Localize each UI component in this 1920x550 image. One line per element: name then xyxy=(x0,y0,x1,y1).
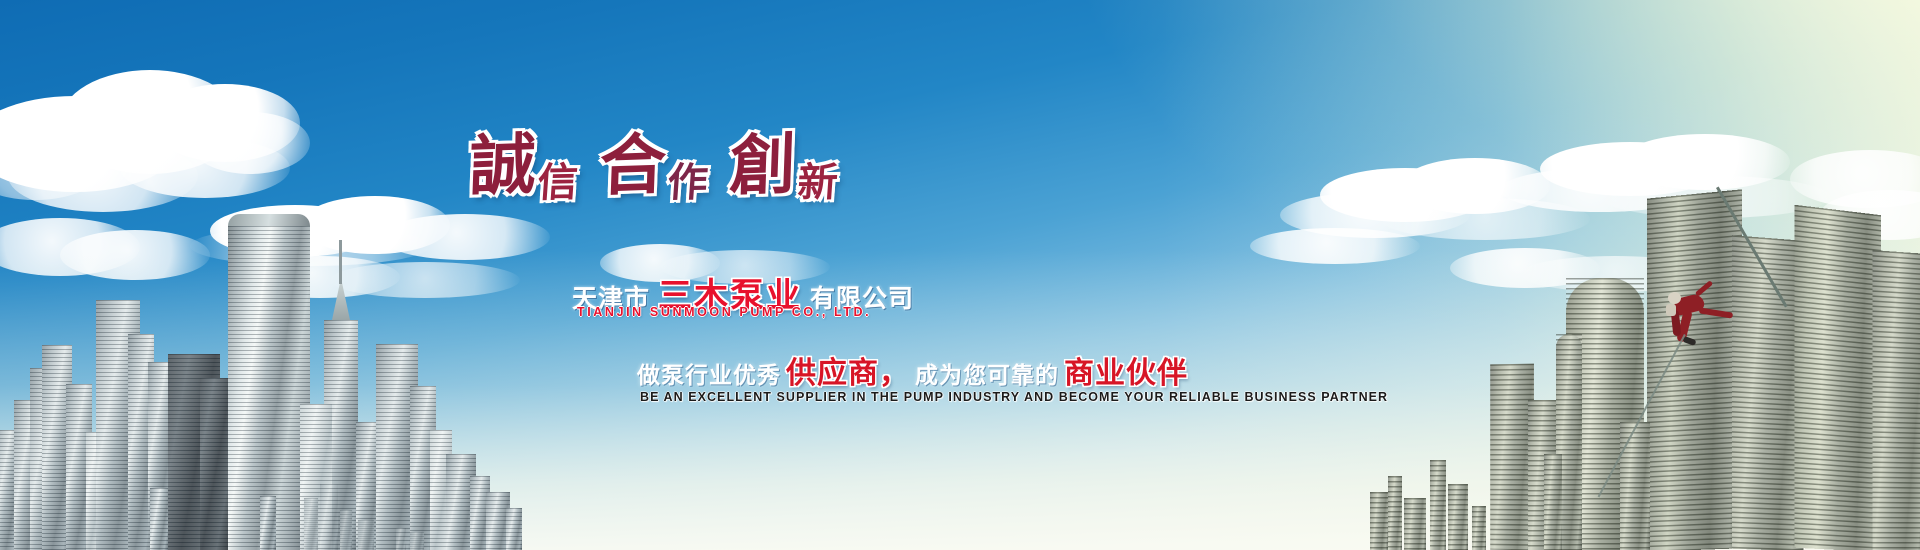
calligraphy-headline: 誠信合作創新 xyxy=(470,112,838,208)
rappelling-climber-figure xyxy=(1600,210,1900,410)
company-name-en: TIANJIN SUNMOON PUMP CO., LTD. xyxy=(577,305,871,319)
hero-banner: 誠信合作創新 天津市三木泵业有限公司 TIANJIN SUNMOON PUMP … xyxy=(0,0,1920,550)
distant-skyline-center xyxy=(300,470,520,550)
climber-arm-upper xyxy=(1695,280,1714,297)
tagline-en: BE AN EXCELLENT SUPPLIER IN THE PUMP IND… xyxy=(640,390,1388,404)
calligraphy-char-zuo: 作 xyxy=(666,150,710,209)
tower-crown xyxy=(228,214,310,226)
climber-boot xyxy=(1682,336,1696,346)
tagline-part2: 供应商， xyxy=(786,356,910,391)
calligraphy-char-chuang: 創 xyxy=(728,111,799,209)
tagline-part4: 商业伙伴 xyxy=(1064,356,1188,391)
climber-helmet xyxy=(1668,292,1681,304)
calligraphy-char-xin2: 新 xyxy=(796,150,840,209)
calligraphy-char-he: 合 xyxy=(598,111,669,209)
tagline-part1: 做泵行业优秀 xyxy=(637,363,781,389)
climber-gear-pack xyxy=(1666,304,1676,316)
climber-arm-extended xyxy=(1699,307,1733,318)
tagline-part3: 成为您可靠的 xyxy=(915,363,1059,389)
tower-spire-needle xyxy=(339,240,342,284)
calligraphy-char-cheng: 誠 xyxy=(468,111,539,209)
calligraphy-char-xin: 信 xyxy=(536,150,580,209)
tower-spire-cone xyxy=(332,278,350,320)
tagline-cn: 做泵行业优秀供应商，成为您可靠的商业伙伴 xyxy=(637,348,1193,392)
